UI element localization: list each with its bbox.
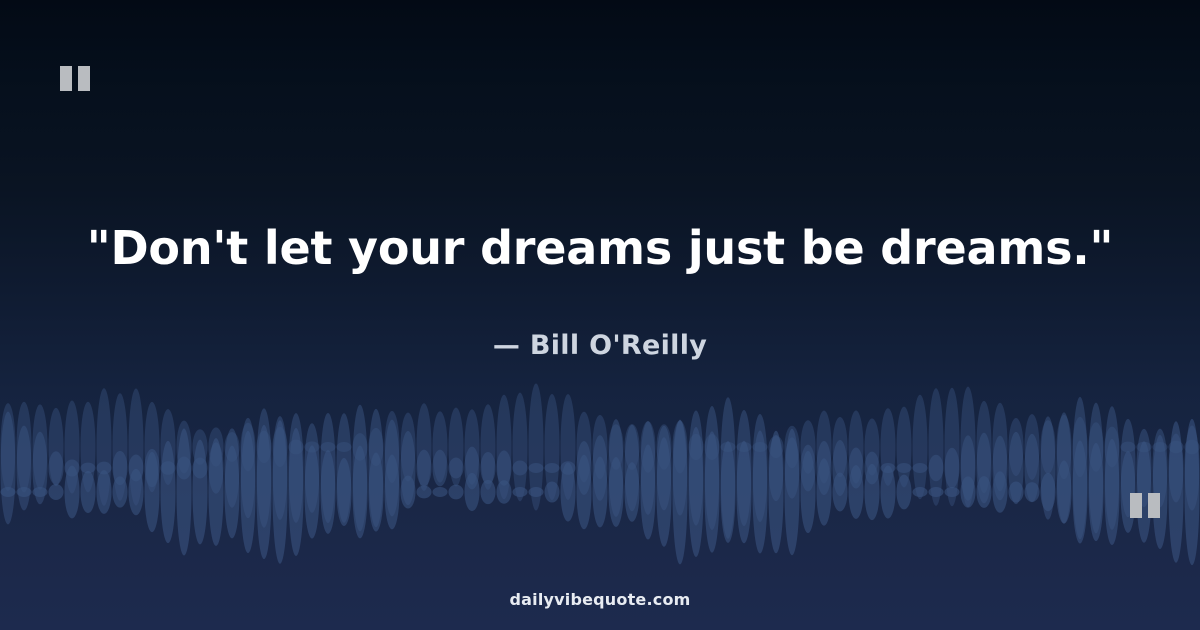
quote-card: "Don't let your dreams just be dreams." … [0, 0, 1200, 630]
card-content: "Don't let your dreams just be dreams." … [0, 0, 1200, 630]
close-quote-mark-icon [1130, 493, 1160, 518]
quote-bar-right [1148, 493, 1160, 518]
quote-bar-right [78, 66, 90, 91]
site-watermark: dailyvibequote.com [0, 590, 1200, 609]
quote-bar-left [60, 66, 72, 91]
quote-bar-left [1130, 493, 1142, 518]
quote-text: "Don't let your dreams just be dreams." [0, 222, 1200, 275]
quote-attribution: — Bill O'Reilly [0, 330, 1200, 361]
open-quote-mark-icon [60, 66, 90, 91]
